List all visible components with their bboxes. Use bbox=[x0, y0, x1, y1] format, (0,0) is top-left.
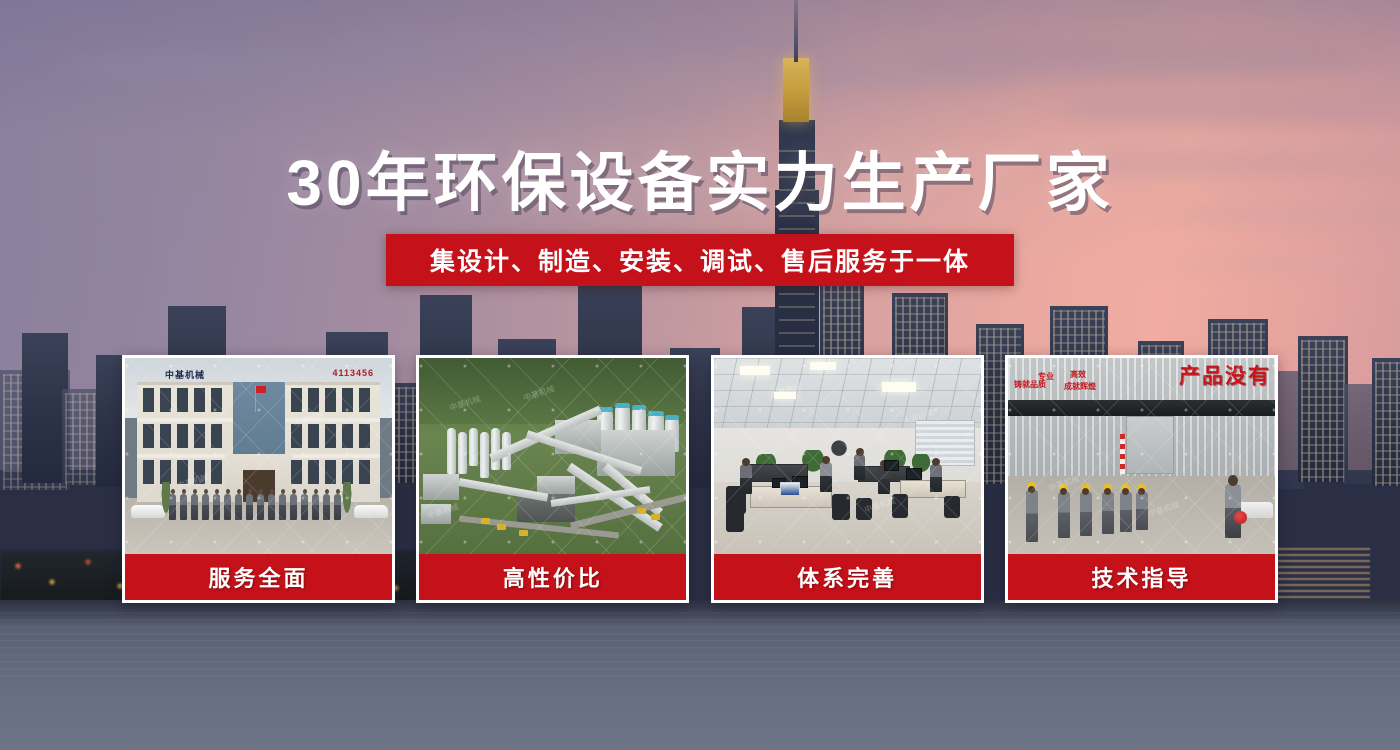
staff-figure bbox=[268, 494, 275, 520]
window-shape bbox=[291, 460, 302, 484]
monitor-shape bbox=[906, 468, 922, 480]
window-shape bbox=[291, 424, 302, 448]
flag-icon bbox=[256, 386, 266, 393]
tower-shape bbox=[469, 428, 478, 466]
subtitle-text: 集设计、制造、安装、调试、售后服务于一体 bbox=[430, 242, 970, 278]
staff-figure bbox=[213, 494, 220, 520]
window-shape bbox=[308, 424, 319, 448]
company-headquarters-photo: 中基机械 4113456 中基机械 中基机械 bbox=[125, 358, 392, 554]
feature-card-label: 技术指导 bbox=[1008, 554, 1275, 600]
worker-figure bbox=[1102, 492, 1114, 534]
staff-figure bbox=[854, 454, 865, 480]
page-title: 30年环保设备实力生产厂家 bbox=[0, 132, 1400, 224]
staff-figure bbox=[180, 494, 187, 520]
head-shape bbox=[856, 448, 864, 456]
head-shape bbox=[932, 458, 940, 466]
monitor-shape bbox=[884, 460, 899, 471]
feature-card-label: 体系完善 bbox=[714, 554, 981, 600]
chair-shape bbox=[944, 496, 960, 518]
window-shape bbox=[160, 388, 171, 412]
staff-figure bbox=[246, 494, 253, 520]
staff-figure bbox=[224, 494, 231, 520]
factory-slogan-text: 高效 bbox=[1070, 370, 1086, 380]
window-shape bbox=[194, 460, 205, 484]
feature-card[interactable]: 产品没有 铸就品质 专业 高效 成就辉煌 中基机械 中基机械 技术指导 bbox=[1005, 355, 1278, 603]
plant-shed bbox=[423, 474, 459, 500]
window-shape bbox=[359, 460, 370, 484]
window-shape bbox=[177, 388, 188, 412]
staff-figure bbox=[312, 494, 319, 520]
window-shape bbox=[211, 460, 222, 484]
chair-shape bbox=[892, 494, 908, 518]
chair-shape bbox=[726, 510, 744, 532]
silo-cap bbox=[665, 415, 679, 420]
window-shape bbox=[143, 388, 154, 412]
worker-figure bbox=[1120, 492, 1132, 532]
window-shape bbox=[194, 424, 205, 448]
worker-figure bbox=[1080, 492, 1092, 536]
factory-banner-text: 产品没有 bbox=[1179, 360, 1271, 390]
window-shape bbox=[177, 424, 188, 448]
staff-figure bbox=[820, 462, 832, 492]
machine-shape bbox=[519, 530, 528, 536]
building-phone-text: 4113456 bbox=[332, 368, 374, 378]
subtitle-banner: 集设计、制造、安装、调试、售后服务于一体 bbox=[386, 234, 1014, 286]
window-shape bbox=[308, 388, 319, 412]
window-shape bbox=[143, 424, 154, 448]
staff-figure bbox=[235, 494, 242, 520]
building-shape bbox=[1298, 336, 1348, 482]
window-shape bbox=[194, 388, 205, 412]
staff-figure bbox=[257, 494, 264, 520]
staff-figure bbox=[334, 494, 341, 520]
landmark-tower-crown bbox=[783, 58, 809, 122]
worker-figure bbox=[1136, 492, 1148, 530]
landmark-tower-spire bbox=[794, 0, 798, 62]
office-interior-photo: 中基机械 中基机械 中基机械 bbox=[714, 358, 981, 554]
silo-cap bbox=[632, 405, 646, 410]
plant-shed bbox=[421, 504, 451, 524]
building-shape bbox=[62, 389, 100, 485]
workshop-training-photo: 产品没有 铸就品质 专业 高效 成就辉煌 中基机械 中基机械 bbox=[1008, 358, 1275, 554]
chair-shape bbox=[832, 494, 850, 520]
tower-shape bbox=[458, 432, 467, 474]
promo-banner: 30年环保设备实力生产厂家 集设计、制造、安装、调试、售后服务于一体 中基机械 … bbox=[0, 0, 1400, 750]
window-shape bbox=[325, 388, 336, 412]
silo-cap bbox=[648, 411, 664, 416]
factory-slogan-text: 专业 bbox=[1038, 372, 1054, 382]
window-shape bbox=[325, 424, 336, 448]
worker-figure bbox=[1026, 490, 1038, 542]
window-shape bbox=[143, 460, 154, 484]
head-shape bbox=[822, 456, 830, 464]
window-shape bbox=[325, 460, 336, 484]
tower-shape bbox=[480, 432, 489, 478]
window-shape bbox=[291, 388, 302, 412]
staff-figure bbox=[191, 494, 198, 520]
machine-shape bbox=[637, 508, 646, 514]
window-shape bbox=[308, 460, 319, 484]
window-shape bbox=[359, 424, 370, 448]
window-shape bbox=[359, 388, 370, 412]
window-shape bbox=[342, 424, 353, 448]
window-shape bbox=[177, 460, 188, 484]
staff-figure bbox=[202, 494, 209, 520]
staff-figure bbox=[930, 464, 942, 492]
red-helmet-icon bbox=[1234, 511, 1247, 524]
tower-shape bbox=[447, 428, 456, 474]
staff-figure bbox=[301, 494, 308, 520]
building-shape bbox=[1372, 358, 1400, 486]
window-shape bbox=[211, 388, 222, 412]
window-shape bbox=[342, 388, 353, 412]
machine-shape bbox=[651, 514, 660, 520]
feature-card-label: 服务全面 bbox=[125, 554, 392, 600]
feature-card-row: 中基机械 4113456 中基机械 中基机械 服务全面 中基机械 bbox=[122, 355, 1278, 603]
feature-card[interactable]: 中基机械 4113456 中基机械 中基机械 服务全面 bbox=[122, 355, 395, 603]
silo-cap bbox=[615, 403, 630, 408]
plant-shed bbox=[537, 476, 575, 494]
feature-card-label: 高性价比 bbox=[419, 554, 686, 600]
water-shimmer bbox=[0, 612, 1400, 682]
staff-figure bbox=[279, 494, 286, 520]
machine-shape bbox=[497, 524, 506, 530]
feature-card[interactable]: 中基机械 中基机械 中基机械 体系完善 bbox=[711, 355, 984, 603]
feature-card[interactable]: 中基机械 中基机械 中基机械 高性价比 bbox=[416, 355, 689, 603]
aerial-plant-photo: 中基机械 中基机械 中基机械 bbox=[419, 358, 686, 554]
window-shape bbox=[160, 460, 171, 484]
staff-figure bbox=[290, 494, 297, 520]
staff-figure bbox=[740, 464, 752, 494]
machine-shape bbox=[481, 518, 490, 524]
worker-figure bbox=[1058, 492, 1070, 538]
window-shape bbox=[342, 460, 353, 484]
building-sign-text: 中基机械 bbox=[165, 368, 205, 381]
wall-decal-icon bbox=[822, 432, 856, 458]
staff-figure bbox=[323, 494, 330, 520]
factory-slogan-text: 成就辉煌 bbox=[1064, 382, 1096, 392]
chair-shape bbox=[856, 498, 872, 520]
window-shape bbox=[211, 424, 222, 448]
equipment-box bbox=[780, 482, 800, 496]
window-shape bbox=[160, 424, 171, 448]
head-shape bbox=[742, 458, 750, 466]
